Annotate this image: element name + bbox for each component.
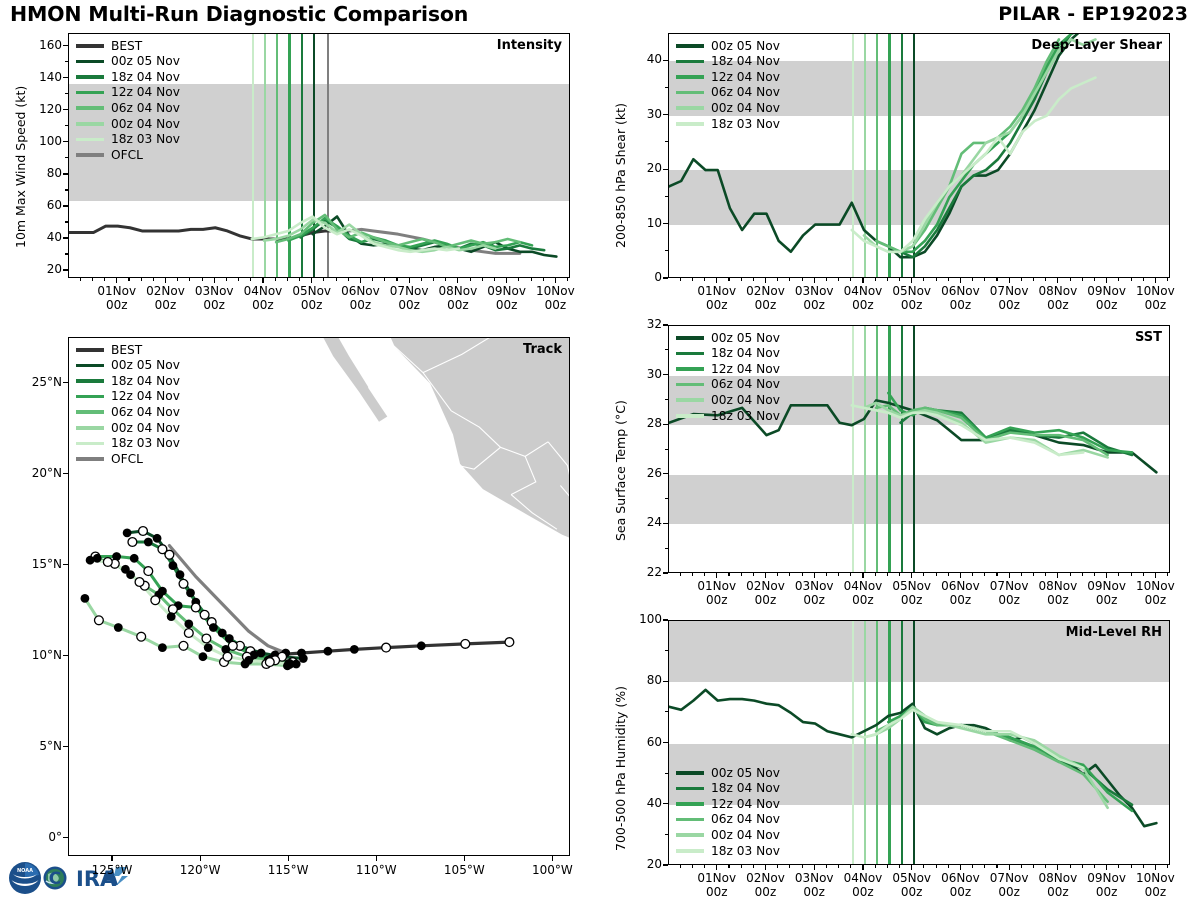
x-minor-tick — [543, 278, 544, 281]
x-tick-mark — [765, 278, 766, 283]
x-minor-tick — [753, 865, 754, 868]
x-minor-tick — [826, 865, 827, 868]
x-minor-tick — [80, 278, 81, 281]
track-point-intermediate — [135, 578, 144, 587]
track-point-intermediate — [184, 629, 193, 638]
rh-corner-label: Mid-Level RH — [1066, 625, 1162, 640]
x-minor-tick — [936, 278, 937, 281]
y-tick-label: 160 — [20, 38, 62, 54]
x-tick-mark — [457, 278, 458, 283]
series-line — [852, 78, 1096, 252]
x-minor-tick — [692, 573, 693, 576]
y-tick-mark — [663, 864, 668, 865]
lon-tick-label: 105°W — [429, 863, 499, 881]
track-point-synoptic — [244, 656, 253, 665]
x-minor-tick — [948, 278, 949, 281]
y-tick-label: 26 — [620, 466, 662, 482]
shear-plot-area[interactable]: Deep-Layer Shear — [668, 33, 1170, 278]
track-point-synoptic — [86, 556, 95, 565]
y-tick-mark — [63, 77, 68, 78]
x-minor-tick — [226, 278, 227, 281]
track-point-intermediate — [223, 652, 232, 661]
x-minor-tick — [1131, 278, 1132, 281]
x-minor-tick — [996, 865, 997, 868]
x-minor-tick — [899, 573, 900, 576]
x-minor-tick — [1143, 278, 1144, 281]
series-line — [864, 707, 1108, 808]
track-point-intermediate — [103, 558, 112, 567]
lat-tick-label: 5°N — [10, 739, 62, 755]
x-minor-tick — [887, 865, 888, 868]
lat-tick-mark — [63, 382, 68, 383]
x-minor-tick — [802, 865, 803, 868]
track-point-intermediate — [179, 641, 188, 650]
y-minor-tick — [665, 449, 668, 450]
track-point-synoptic — [81, 594, 90, 603]
x-minor-tick — [1045, 573, 1046, 576]
y-tick-mark — [663, 742, 668, 743]
x-tick-mark — [716, 865, 717, 870]
x-tick-mark — [1057, 573, 1058, 578]
y-minor-tick — [665, 773, 668, 774]
x-minor-tick — [704, 865, 705, 868]
x-minor-tick — [384, 278, 385, 281]
x-tick-mark — [716, 278, 717, 283]
x-minor-tick — [777, 865, 778, 868]
track-point-intermediate — [200, 610, 209, 619]
track-map-area[interactable]: Track — [68, 337, 570, 856]
x-minor-tick — [923, 278, 924, 281]
y-tick-mark — [663, 324, 668, 325]
x-minor-tick — [1070, 865, 1071, 868]
x-minor-tick — [141, 278, 142, 281]
y-tick-mark — [663, 424, 668, 425]
x-tick-mark — [862, 573, 863, 578]
track-point-synoptic — [169, 561, 178, 570]
intensity-corner-label: Intensity — [497, 38, 562, 53]
track-point-intermediate — [144, 567, 153, 576]
lat-tick-label: 20°N — [10, 466, 62, 482]
x-minor-tick — [518, 278, 519, 281]
track-point-synoptic — [153, 534, 162, 543]
x-minor-tick — [826, 278, 827, 281]
track-point-synoptic — [130, 554, 139, 563]
x-minor-tick — [802, 573, 803, 576]
x-tick-mark — [1106, 278, 1107, 283]
track-point-synoptic — [218, 629, 227, 638]
y-tick-label: 40 — [20, 230, 62, 246]
x-minor-tick — [299, 278, 300, 281]
x-minor-tick — [838, 573, 839, 576]
x-minor-tick — [1118, 865, 1119, 868]
track-point-intermediate — [265, 658, 274, 667]
y-tick-mark — [663, 374, 668, 375]
y-tick-mark — [663, 681, 668, 682]
x-minor-tick — [887, 278, 888, 281]
x-tick-mark — [911, 865, 912, 870]
y-tick-label: 60 — [620, 735, 662, 751]
x-minor-tick — [704, 278, 705, 281]
svg-text:C: C — [49, 869, 61, 889]
x-minor-tick — [421, 278, 422, 281]
lon-tick-mark — [200, 856, 201, 861]
y-tick-mark — [663, 114, 668, 115]
x-tick-mark — [716, 573, 717, 578]
lon-tick-label: 115°W — [253, 863, 323, 881]
y-tick-label: 20 — [620, 857, 662, 873]
x-minor-tick — [728, 573, 729, 576]
x-tick-mark — [960, 865, 961, 870]
y-tick-label: 0 — [620, 270, 662, 286]
x-tick-mark — [165, 278, 166, 283]
x-tick-mark — [1009, 573, 1010, 578]
y-tick-label: 22 — [620, 565, 662, 581]
x-minor-tick — [850, 573, 851, 576]
x-minor-tick — [923, 573, 924, 576]
x-minor-tick — [692, 865, 693, 868]
track-point-intermediate — [128, 538, 137, 547]
x-minor-tick — [984, 573, 985, 576]
x-minor-tick — [984, 865, 985, 868]
x-minor-tick — [336, 278, 337, 281]
y-tick-mark — [63, 237, 68, 238]
x-minor-tick — [984, 278, 985, 281]
x-tick-mark — [862, 865, 863, 870]
sst-plot-area[interactable]: SST — [668, 325, 1170, 573]
x-minor-tick — [850, 278, 851, 281]
lon-tick-mark — [552, 856, 553, 861]
intensity-plot-area[interactable]: Intensity — [68, 33, 570, 278]
x-minor-tick — [887, 573, 888, 576]
x-minor-tick — [1021, 573, 1022, 576]
track-point-synoptic — [184, 620, 193, 629]
lon-tick-mark — [376, 856, 377, 861]
y-tick-mark — [663, 277, 668, 278]
track-point-synoptic — [209, 623, 218, 632]
x-minor-tick — [680, 573, 681, 576]
y-minor-tick — [665, 196, 668, 197]
x-minor-tick — [250, 278, 251, 281]
x-minor-tick — [777, 278, 778, 281]
track-point-synoptic — [204, 643, 213, 652]
y-minor-tick — [665, 498, 668, 499]
lat-tick-mark — [63, 564, 68, 565]
x-minor-tick — [972, 573, 973, 576]
x-minor-tick — [753, 573, 754, 576]
track-point-synoptic — [114, 623, 123, 632]
y-minor-tick — [65, 221, 68, 222]
y-tick-label: 24 — [620, 515, 662, 531]
track-point-synoptic — [123, 529, 132, 538]
y-tick-label: 28 — [620, 416, 662, 432]
track-point-synoptic — [176, 570, 185, 579]
x-minor-tick — [704, 573, 705, 576]
x-minor-tick — [189, 278, 190, 281]
y-minor-tick — [65, 125, 68, 126]
x-tick-mark — [311, 278, 312, 283]
y-minor-tick — [65, 61, 68, 62]
x-minor-tick — [875, 865, 876, 868]
track-corner-label: Track — [523, 342, 562, 357]
y-tick-mark — [63, 205, 68, 206]
y-minor-tick — [665, 349, 668, 350]
sst-corner-label: SST — [1135, 330, 1162, 345]
x-minor-tick — [92, 278, 93, 281]
track-point-intermediate — [158, 545, 167, 554]
track-point-synoptic — [167, 612, 176, 621]
lon-tick-mark — [288, 856, 289, 861]
x-minor-tick — [567, 278, 568, 281]
x-tick-mark — [1106, 865, 1107, 870]
x-minor-tick — [1045, 865, 1046, 868]
x-tick-mark — [862, 278, 863, 283]
x-minor-tick — [128, 278, 129, 281]
x-minor-tick — [1021, 278, 1022, 281]
x-minor-tick — [1033, 278, 1034, 281]
y-minor-tick — [665, 250, 668, 251]
mexico-mainland — [250, 338, 569, 538]
x-minor-tick — [1131, 573, 1132, 576]
x-tick-mark — [814, 573, 815, 578]
x-minor-tick — [433, 278, 434, 281]
y-minor-tick — [665, 87, 668, 88]
x-minor-tick — [728, 278, 729, 281]
x-minor-tick — [1131, 865, 1132, 868]
y-tick-label: 30 — [620, 367, 662, 383]
series-line — [669, 34, 1083, 257]
x-tick-mark — [1009, 865, 1010, 870]
lat-tick-label: 0° — [10, 830, 62, 846]
x-tick-mark — [262, 278, 263, 283]
rh-y-axis-label: 700-500 hPa Humidity (%) — [613, 685, 628, 850]
x-minor-tick — [177, 278, 178, 281]
x-minor-tick — [445, 278, 446, 281]
x-minor-tick — [275, 278, 276, 281]
x-minor-tick — [692, 278, 693, 281]
x-minor-tick — [826, 573, 827, 576]
y-tick-mark — [663, 523, 668, 524]
x-minor-tick — [1118, 573, 1119, 576]
y-tick-mark — [63, 109, 68, 110]
track-point-intermediate — [382, 643, 391, 652]
x-tick-label: 10Nov00z — [1125, 284, 1185, 316]
x-tick-mark — [555, 278, 556, 283]
track-point-synoptic — [199, 652, 208, 661]
x-tick-label: 10Nov00z — [1125, 579, 1185, 611]
lon-tick-label: 125°W — [77, 863, 147, 881]
track-point-synoptic — [299, 654, 308, 663]
rh-plot-area[interactable]: Mid-Level RH — [668, 620, 1170, 865]
x-minor-tick — [1021, 865, 1022, 868]
x-minor-tick — [680, 278, 681, 281]
y-tick-label: 140 — [20, 70, 62, 86]
x-minor-tick — [1082, 865, 1083, 868]
y-tick-mark — [63, 141, 68, 142]
sst-series-group — [669, 326, 1169, 572]
x-tick-mark — [960, 573, 961, 578]
x-minor-tick — [1033, 573, 1034, 576]
x-minor-tick — [494, 278, 495, 281]
y-tick-label: 80 — [20, 166, 62, 182]
y-tick-mark — [663, 473, 668, 474]
track-point-intermediate — [202, 634, 211, 643]
x-tick-mark — [1155, 278, 1156, 283]
lat-tick-mark — [63, 473, 68, 474]
baja-california — [252, 338, 388, 422]
y-tick-mark — [663, 223, 668, 224]
series-line — [864, 39, 1096, 251]
y-minor-tick — [65, 189, 68, 190]
track-point-synoptic — [158, 643, 167, 652]
x-tick-mark — [814, 278, 815, 283]
y-tick-mark — [63, 269, 68, 270]
x-minor-tick — [838, 865, 839, 868]
x-tick-mark — [960, 278, 961, 283]
x-minor-tick — [1082, 573, 1083, 576]
x-minor-tick — [104, 278, 105, 281]
y-minor-tick — [65, 253, 68, 254]
x-minor-tick — [948, 573, 949, 576]
lat-tick-mark — [63, 746, 68, 747]
lat-tick-mark — [63, 837, 68, 838]
x-minor-tick — [936, 573, 937, 576]
y-tick-label: 40 — [620, 796, 662, 812]
lon-tick-mark — [111, 856, 112, 861]
svg-text:NOAA: NOAA — [17, 868, 33, 874]
lat-tick-mark — [63, 655, 68, 656]
x-minor-tick — [789, 865, 790, 868]
x-minor-tick — [1070, 278, 1071, 281]
x-minor-tick — [996, 573, 997, 576]
x-minor-tick — [899, 865, 900, 868]
y-minor-tick — [665, 711, 668, 712]
y-tick-mark — [63, 45, 68, 46]
y-tick-label: 80 — [620, 673, 662, 689]
x-minor-tick — [741, 865, 742, 868]
x-minor-tick — [1167, 573, 1168, 576]
lat-tick-label: 25°N — [10, 375, 62, 391]
page-title: HMON Multi-Run Diagnostic Comparison — [10, 2, 468, 26]
x-minor-tick — [972, 278, 973, 281]
x-minor-tick — [372, 278, 373, 281]
y-minor-tick — [665, 399, 668, 400]
track-point-intermediate — [139, 527, 148, 536]
y-tick-label: 10 — [620, 216, 662, 232]
track-point-synoptic — [121, 565, 130, 574]
x-tick-mark — [360, 278, 361, 283]
shear-series-group — [669, 34, 1169, 277]
track-point-intermediate — [151, 596, 160, 605]
x-minor-tick — [728, 865, 729, 868]
y-tick-mark — [663, 619, 668, 620]
x-minor-tick — [875, 573, 876, 576]
x-minor-tick — [1082, 278, 1083, 281]
series-line — [888, 707, 1132, 811]
y-minor-tick — [665, 834, 668, 835]
y-tick-label: 40 — [620, 52, 662, 68]
x-tick-mark — [116, 278, 117, 283]
x-tick-label: 10Nov00z — [1125, 871, 1185, 903]
x-minor-tick — [287, 278, 288, 281]
x-minor-tick — [1143, 865, 1144, 868]
x-tick-mark — [1057, 278, 1058, 283]
x-minor-tick — [323, 278, 324, 281]
lat-tick-label: 15°N — [10, 557, 62, 573]
y-tick-label: 100 — [620, 612, 662, 628]
x-minor-tick — [482, 278, 483, 281]
series-line — [876, 39, 1059, 251]
y-tick-label: 120 — [20, 102, 62, 118]
x-minor-tick — [1070, 573, 1071, 576]
x-minor-tick — [899, 278, 900, 281]
x-tick-mark — [765, 573, 766, 578]
y-tick-mark — [63, 173, 68, 174]
x-minor-tick — [470, 278, 471, 281]
track-point-intermediate — [137, 632, 146, 641]
track-point-intermediate — [505, 638, 514, 647]
y-tick-mark — [663, 169, 668, 170]
x-minor-tick — [1033, 865, 1034, 868]
x-minor-tick — [802, 278, 803, 281]
x-minor-tick — [1143, 573, 1144, 576]
y-tick-mark — [663, 572, 668, 573]
x-minor-tick — [972, 865, 973, 868]
x-minor-tick — [741, 278, 742, 281]
y-minor-tick — [665, 650, 668, 651]
x-minor-tick — [850, 865, 851, 868]
x-minor-tick — [1094, 278, 1095, 281]
x-minor-tick — [202, 278, 203, 281]
x-tick-mark — [409, 278, 410, 283]
x-minor-tick — [531, 278, 532, 281]
x-minor-tick — [741, 573, 742, 576]
series-line — [888, 393, 1132, 453]
track-map-svg — [69, 338, 569, 855]
y-tick-label: 100 — [20, 134, 62, 150]
x-minor-tick — [1167, 865, 1168, 868]
track-point-synoptic — [285, 660, 294, 669]
x-minor-tick — [789, 278, 790, 281]
x-tick-mark — [214, 278, 215, 283]
x-minor-tick — [1094, 865, 1095, 868]
x-minor-tick — [1167, 278, 1168, 281]
track-point-intermediate — [191, 603, 200, 612]
x-tick-mark — [1009, 278, 1010, 283]
lon-tick-label: 120°W — [165, 863, 235, 881]
x-minor-tick — [153, 278, 154, 281]
y-minor-tick — [65, 157, 68, 158]
lat-tick-label: 10°N — [10, 648, 62, 664]
track-point-intermediate — [461, 640, 470, 649]
x-tick-mark — [1057, 865, 1058, 870]
x-tick-mark — [506, 278, 507, 283]
x-minor-tick — [348, 278, 349, 281]
x-minor-tick — [777, 573, 778, 576]
x-minor-tick — [838, 278, 839, 281]
y-minor-tick — [65, 93, 68, 94]
x-tick-mark — [1155, 573, 1156, 578]
x-tick-mark — [911, 278, 912, 283]
track-point-synoptic — [144, 538, 153, 547]
lon-tick-label: 110°W — [341, 863, 411, 881]
x-tick-label: 10Nov00z — [525, 284, 585, 316]
x-tick-mark — [1155, 865, 1156, 870]
y-tick-label: 30 — [620, 107, 662, 123]
x-minor-tick — [875, 278, 876, 281]
x-tick-mark — [1106, 573, 1107, 578]
y-tick-label: 20 — [20, 262, 62, 278]
x-minor-tick — [238, 278, 239, 281]
